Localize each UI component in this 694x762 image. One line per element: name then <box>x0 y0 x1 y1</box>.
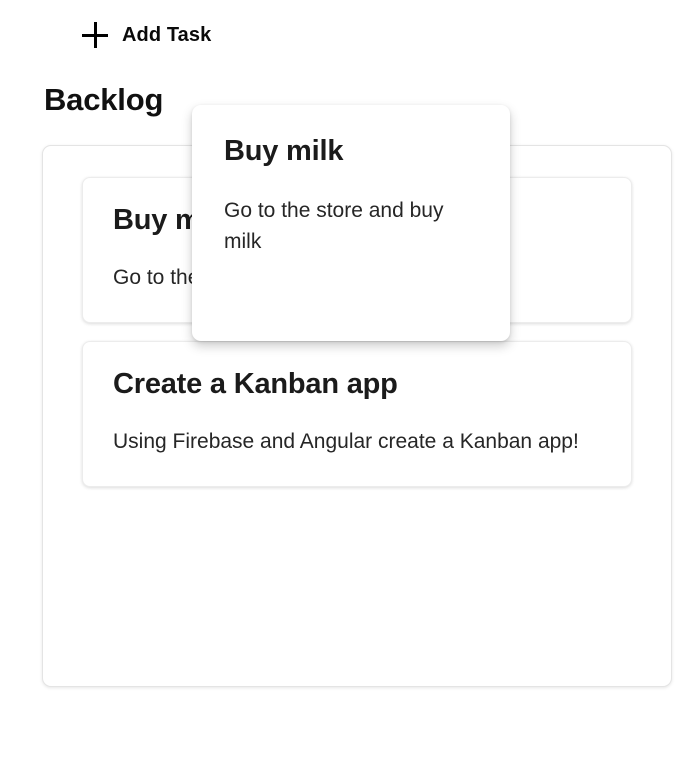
task-card-title: Create a Kanban app <box>113 368 601 401</box>
drag-preview-description: Go to the store and buy milk <box>224 196 478 257</box>
task-card-description: Using Firebase and Angular create a Kanb… <box>113 427 601 457</box>
task-card[interactable]: Create a Kanban app Using Firebase and A… <box>82 341 632 487</box>
drag-preview-card[interactable]: Buy milk Go to the store and buy milk <box>192 105 510 341</box>
drag-preview-title: Buy milk <box>224 135 478 168</box>
add-task-label: Add Task <box>122 24 211 47</box>
add-task-button[interactable]: Add Task <box>82 22 211 48</box>
plus-icon <box>82 22 108 48</box>
